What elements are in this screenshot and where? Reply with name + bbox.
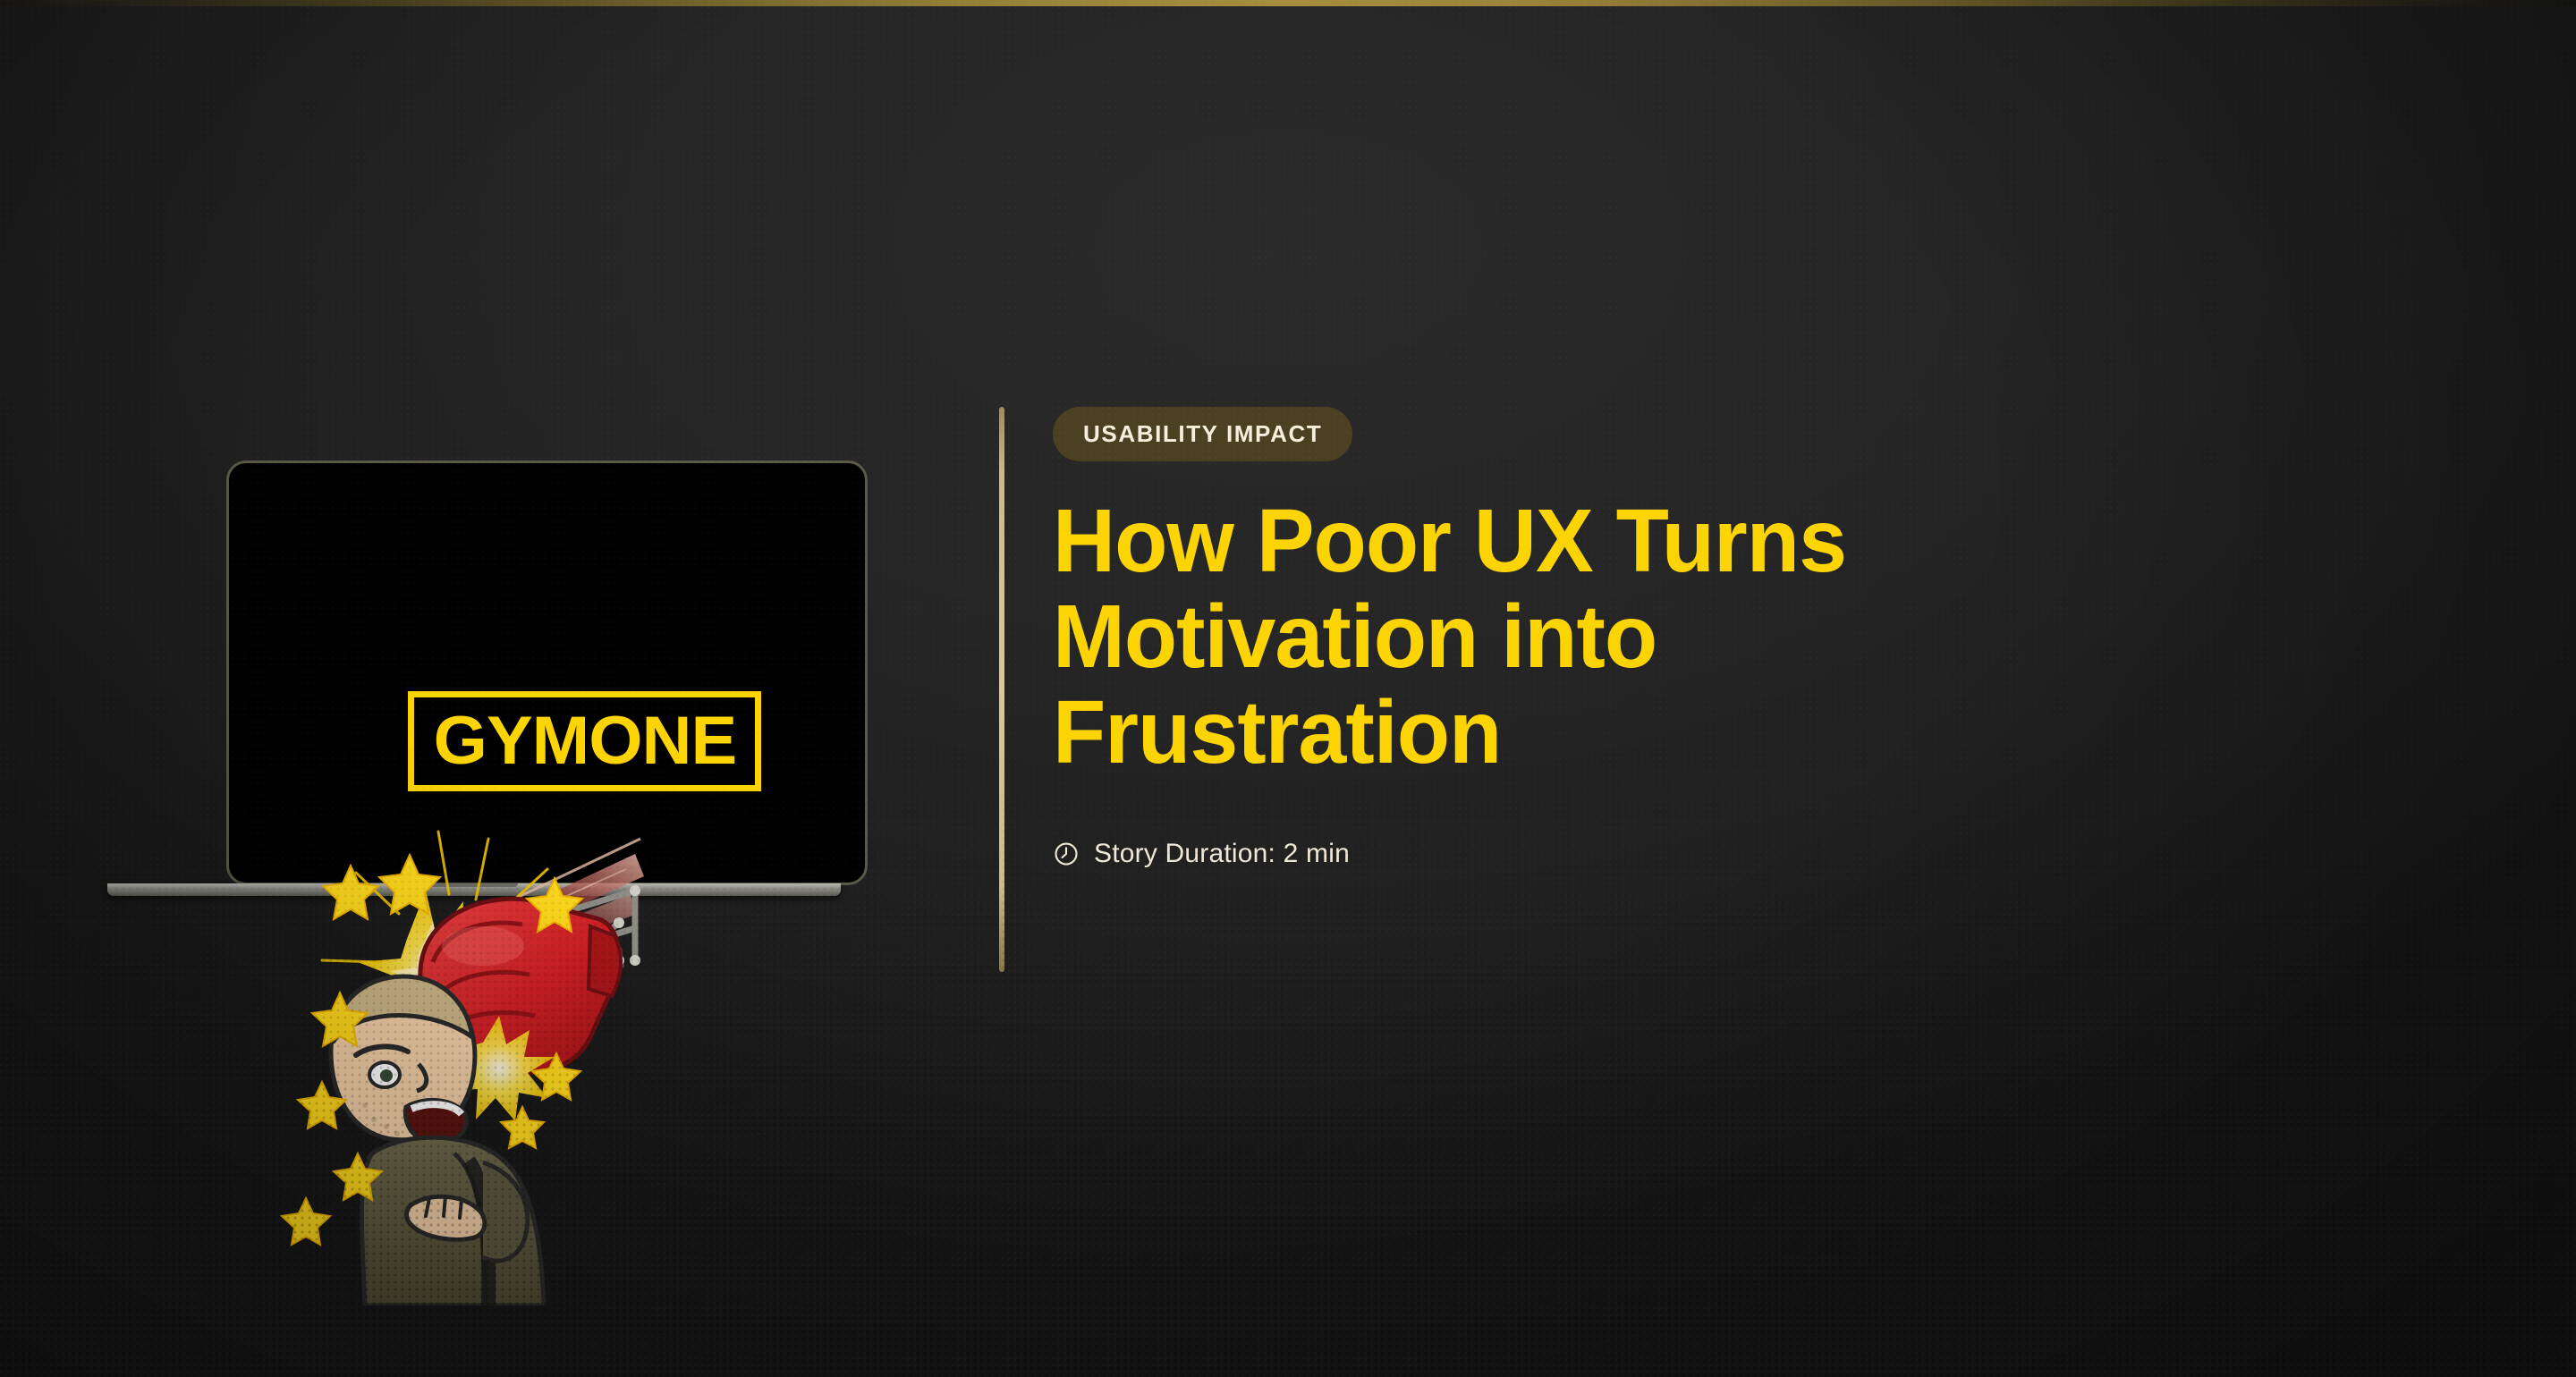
gymone-logo: GYMONE bbox=[408, 691, 761, 791]
title-line-3: Frustration bbox=[1053, 685, 2077, 781]
page-title: How Poor UX Turns Motivation into Frustr… bbox=[1053, 494, 2077, 781]
title-line-1: How Poor UX Turns bbox=[1053, 494, 2077, 589]
laptop-screen: GYMONE bbox=[226, 460, 868, 885]
top-accent-bar bbox=[0, 0, 2576, 6]
title-line-2: Motivation into bbox=[1053, 589, 2077, 685]
slide-canvas: GYMONE bbox=[0, 0, 2576, 1377]
story-duration: Story Duration: 2 min bbox=[1053, 841, 2394, 867]
laptop-base bbox=[107, 883, 841, 896]
accent-divider bbox=[999, 407, 1004, 972]
gymone-logo-text: GYMONE bbox=[433, 707, 735, 775]
hero-illustration: GYMONE bbox=[107, 393, 948, 1341]
clock-icon bbox=[1053, 841, 1080, 867]
category-badge: USABILITY IMPACT bbox=[1053, 407, 1352, 461]
content-column: USABILITY IMPACT How Poor UX Turns Motiv… bbox=[1053, 407, 2394, 867]
story-duration-label: Story Duration: 2 min bbox=[1094, 841, 1350, 867]
